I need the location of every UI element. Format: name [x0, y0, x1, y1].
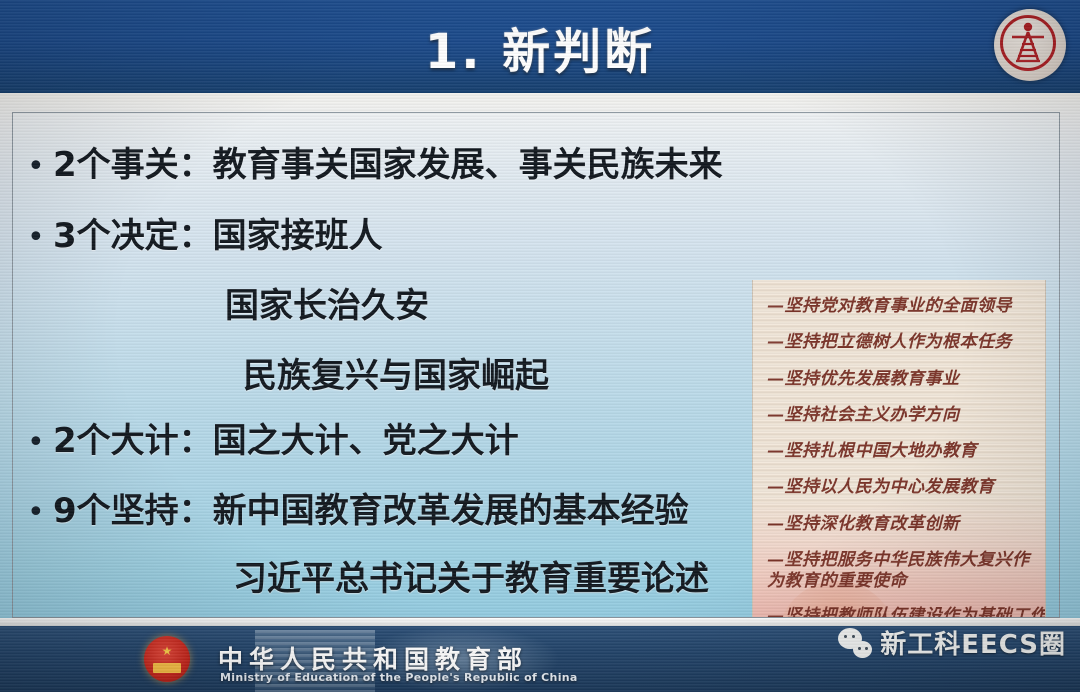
sub-list-item: 习近平总书记关于教育重要论述 — [233, 561, 709, 598]
tiananmen-gate-glyph — [153, 663, 181, 673]
list-item: • 3个决定：国家接班人 — [27, 218, 383, 255]
bullet-list: • 2个事关：教育事关国家发展、事关民族未来 • 3个决定：国家接班人 国家长治… — [13, 113, 761, 619]
list-item: • 2个大计：国之大计、党之大计 — [27, 423, 519, 460]
sub-item-text: 民族复兴与国家崛起 — [243, 358, 549, 395]
page-title: 1. 新判断 — [0, 12, 1080, 82]
wechat-bubble-small — [853, 641, 872, 658]
wechat-eye — [865, 647, 868, 650]
bullet-text: 9个坚持：新中国教育改革发展的基本经验 — [53, 493, 689, 530]
sub-item-text: 国家长治久安 — [225, 288, 429, 325]
list-item: • 9个坚持：新中国教育改革发展的基本经验 — [27, 493, 689, 530]
panel-list-item: —坚持以人民为中心发展教育 — [753, 477, 1045, 498]
panel-list-item: —坚持扎根中国大地办教育 — [753, 441, 1045, 462]
bullet-marker: • — [27, 152, 53, 182]
institution-emblem-icon — [994, 9, 1066, 81]
presentation-slide: 1. 新判断 • 2个事关：教育事关国家发展、事关民族未来 • 3个决定：国家接… — [0, 0, 1080, 692]
panel-list-item: —坚持把立德树人作为根本任务 — [753, 332, 1045, 353]
bullet-marker: • — [27, 498, 53, 528]
national-emblem-icon: ★ — [144, 636, 190, 682]
wechat-icon — [838, 628, 872, 658]
panel-list-item: —坚持把教师队伍建设作为基础工作 — [753, 606, 1045, 617]
star-glyph: ★ — [162, 645, 173, 657]
slide-header: 1. 新判断 — [0, 0, 1080, 93]
ministry-name-en: Ministry of Education of the People's Re… — [220, 671, 578, 684]
emblem-tower-glyph — [1000, 15, 1056, 71]
sub-list-item: 民族复兴与国家崛起 — [243, 358, 549, 395]
panel-list-item: —坚持把服务中华民族伟大复兴作为教育的重要使命 — [753, 550, 1045, 593]
sub-item-text: 习近平总书记关于教育重要论述 — [233, 561, 709, 598]
wechat-eye — [858, 647, 861, 650]
panel-list-item: —坚持党对教育事业的全面领导 — [753, 296, 1045, 317]
bullet-marker: • — [27, 223, 53, 253]
bullet-text: 2个事关：教育事关国家发展、事关民族未来 — [53, 147, 723, 184]
nine-adherences-panel: —坚持党对教育事业的全面领导 —坚持把立德树人作为根本任务 —坚持优先发展教育事… — [752, 280, 1046, 617]
panel-list-item: —坚持深化教育改革创新 — [753, 514, 1045, 535]
list-item: • 2个事关：教育事关国家发展、事关民族未来 — [27, 147, 723, 184]
bullet-marker: • — [27, 428, 53, 458]
watermark-label: 新工科EECS圈 — [880, 624, 1066, 661]
bullet-text: 2个大计：国之大计、党之大计 — [53, 423, 519, 460]
wechat-eye — [852, 635, 855, 638]
panel-list-item: —坚持优先发展教育事业 — [753, 369, 1045, 390]
wechat-eye — [844, 635, 847, 638]
sub-list-item: 国家长治久安 — [225, 288, 429, 325]
channel-watermark: 新工科EECS圈 — [838, 624, 1066, 661]
bullet-text: 3个决定：国家接班人 — [53, 218, 383, 255]
panel-list-item: —坚持社会主义办学方向 — [753, 405, 1045, 426]
